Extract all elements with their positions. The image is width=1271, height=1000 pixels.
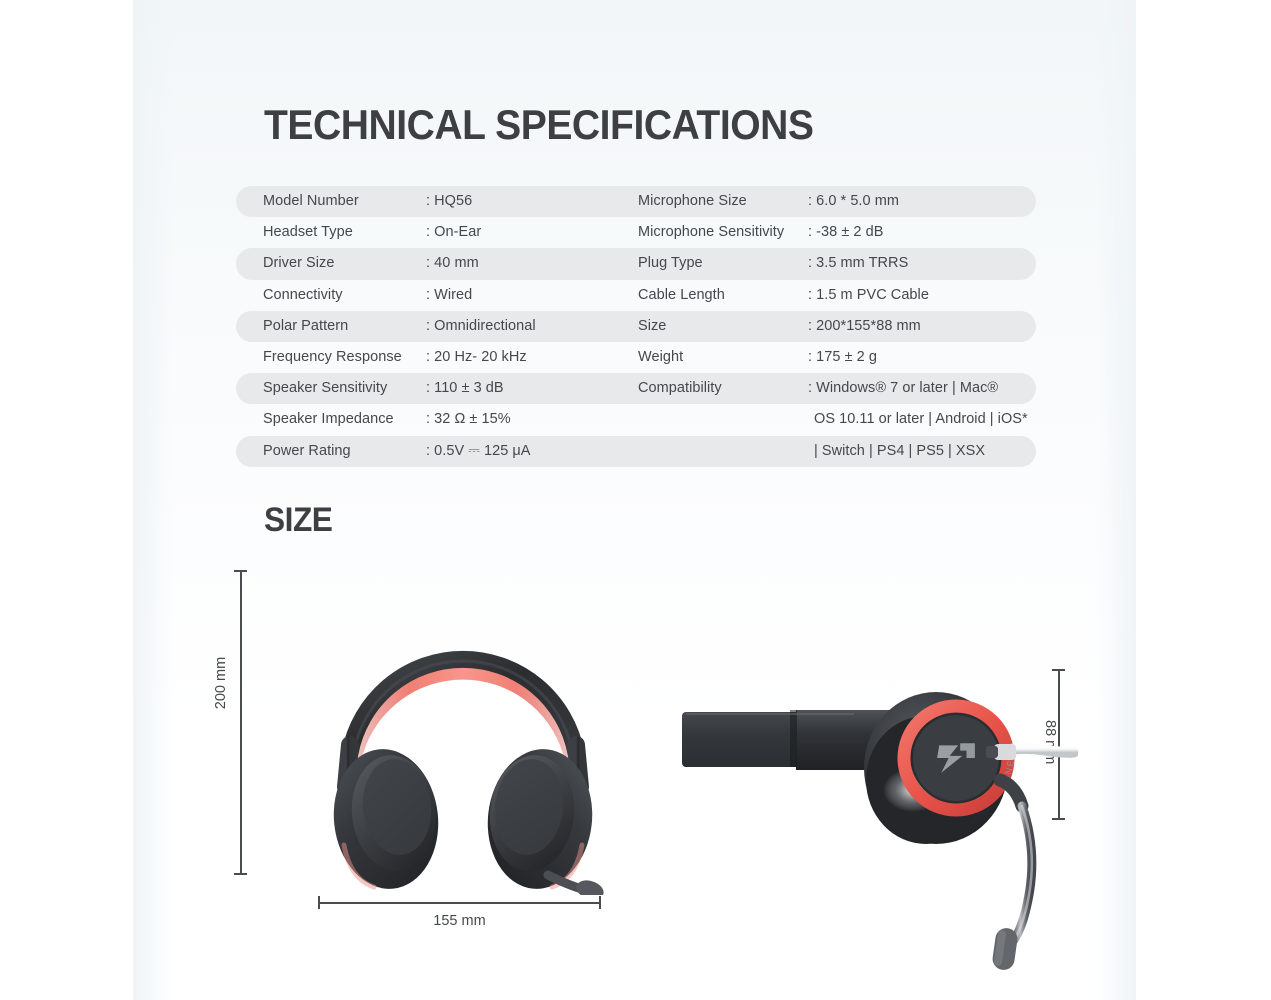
dimension-line-height — [240, 570, 242, 875]
spec-label-left: Speaker Sensitivity — [263, 373, 387, 404]
spec-label-left: Model Number — [263, 186, 359, 217]
dimension-cap-width-left — [318, 896, 320, 909]
spec-value-left: : 32 Ω ± 15% — [426, 404, 511, 435]
spec-value-right: : 3.5 mm TRRS — [808, 248, 908, 279]
dimension-label-height: 200 mm — [213, 657, 229, 709]
page-title-technical-specifications: TECHNICAL SPECIFICATIONS — [264, 101, 813, 149]
spec-value-left: : Wired — [426, 280, 472, 311]
table-row: Model Number: HQ56Microphone Size: 6.0 *… — [236, 186, 1036, 217]
spec-label-right: Size — [638, 311, 666, 342]
spec-value-right: OS 10.11 or later | Android | iOS* — [814, 404, 1028, 435]
spec-value-left: : 20 Hz- 20 kHz — [426, 342, 527, 373]
spec-value-left: : 0.5V ⎓ 125 μA — [426, 436, 531, 467]
table-row: Polar Pattern: OmnidirectionalSize: 200*… — [236, 311, 1036, 342]
table-row: Frequency Response: 20 Hz- 20 kHzWeight:… — [236, 342, 1036, 373]
section-title-size: SIZE — [264, 501, 332, 540]
spec-value-right: : 1.5 m PVC Cable — [808, 280, 929, 311]
spec-value-right: : 6.0 * 5.0 mm — [808, 186, 899, 217]
dimension-line-width — [318, 902, 601, 904]
table-row: Power Rating: 0.5V ⎓ 125 μA| Switch | PS… — [236, 436, 1036, 467]
dimension-cap-width-right — [599, 896, 601, 909]
earcup-side — [864, 692, 1008, 844]
dimension-cap-height-bottom — [234, 873, 247, 875]
spec-label-right: Plug Type — [638, 248, 703, 279]
spec-value-left: : HQ56 — [426, 186, 472, 217]
table-row: Driver Size: 40 mmPlug Type: 3.5 mm TRRS — [236, 248, 1036, 279]
table-row: Speaker Impedance: 32 Ω ± 15%OS 10.11 or… — [236, 404, 1036, 435]
spec-label-left: Polar Pattern — [263, 311, 348, 342]
spec-label-right: Cable Length — [638, 280, 725, 311]
dimension-label-width: 155 mm — [318, 913, 601, 929]
microphone-boom — [991, 780, 1032, 970]
spec-value-left: : Omnidirectional — [426, 311, 536, 342]
table-row: Connectivity: WiredCable Length: 1.5 m P… — [236, 280, 1036, 311]
spec-value-right: | Switch | PS4 | PS5 | XSX — [814, 436, 985, 467]
headset-front-view-image — [298, 555, 628, 895]
spec-value-right: : 175 ± 2 g — [808, 342, 877, 373]
table-row: Speaker Sensitivity: 110 ± 3 dBCompatibi… — [236, 373, 1036, 404]
spec-value-right: : -38 ± 2 dB — [808, 217, 883, 248]
spec-value-right: : Windows® 7 or later | Mac® — [808, 373, 998, 404]
spec-label-left: Headset Type — [263, 217, 353, 248]
spec-label-right: Compatibility — [638, 373, 722, 404]
spec-label-left: Speaker Impedance — [263, 404, 394, 435]
dimension-cap-height-top — [234, 570, 247, 572]
audio-cable — [986, 744, 1074, 760]
spec-label-right: Microphone Sensitivity — [638, 217, 784, 248]
spec-value-left: : 110 ± 3 dB — [426, 373, 504, 404]
size-diagram: 200 mm 155 mm 88 mm — [133, 545, 1136, 1000]
table-row: Headset Type: On-EarMicrophone Sensitivi… — [236, 217, 1036, 248]
spec-value-left: : On-Ear — [426, 217, 481, 248]
spec-label-left: Power Rating — [263, 436, 351, 467]
spec-label-right: Weight — [638, 342, 683, 373]
spec-label-left: Connectivity — [263, 280, 343, 311]
spec-label-left: Driver Size — [263, 248, 334, 279]
spec-label-right: Microphone Size — [638, 186, 747, 217]
spec-label-left: Frequency Response — [263, 342, 402, 373]
spec-value-right: : 200*155*88 mm — [808, 311, 921, 342]
product-spec-page: TECHNICAL SPECIFICATIONS Model Number: H… — [0, 0, 1271, 1000]
headset-side-view-image: TONE — [678, 640, 1078, 970]
specifications-table: Model Number: HQ56Microphone Size: 6.0 *… — [236, 186, 1036, 467]
spec-value-left: : 40 mm — [426, 248, 479, 279]
